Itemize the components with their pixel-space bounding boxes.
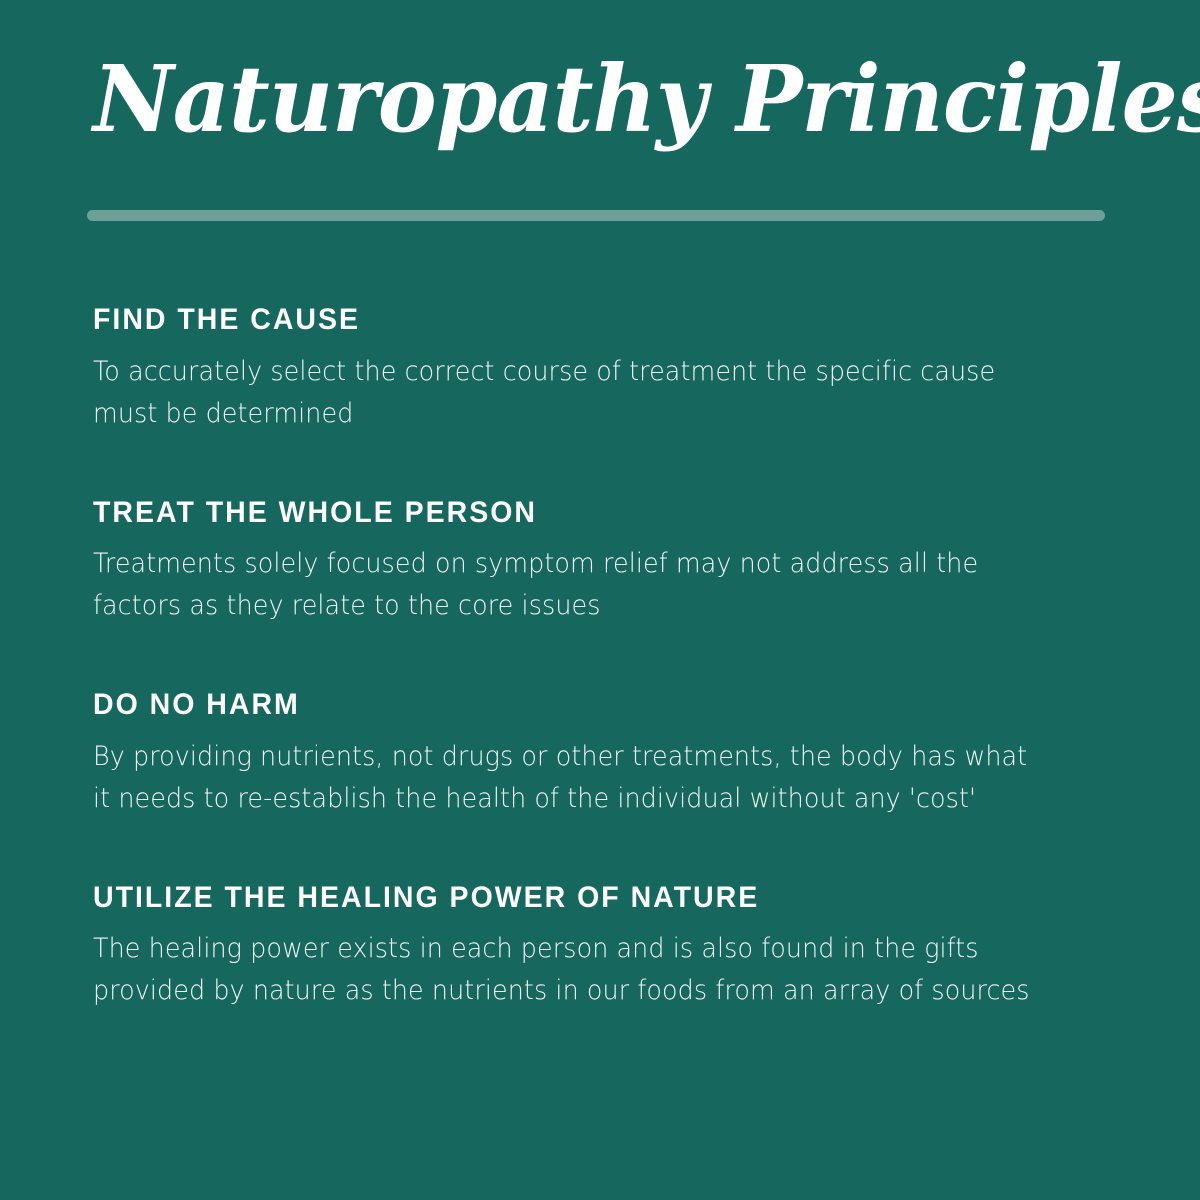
principle-heading-do-no-harm: DO NO HARM xyxy=(93,688,1043,722)
list-item: FIND THE CAUSE To accurately select the … xyxy=(93,303,1093,435)
principle-body-do-no-harm: By providing nutrients, not drugs or oth… xyxy=(93,736,1033,820)
page-title: Naturopathy Principles xyxy=(93,52,1072,148)
list-item: UTILIZE THE HEALING POWER OF NATURE The … xyxy=(93,881,1093,1013)
naturopathy-principles-poster: Naturopathy Principles FIND THE CAUSE To… xyxy=(0,0,1200,1200)
principle-body-find-the-cause: To accurately select the correct course … xyxy=(93,351,1033,435)
principle-heading-treat-the-whole-person: TREAT THE WHOLE PERSON xyxy=(93,496,1043,530)
principles-list: FIND THE CAUSE To accurately select the … xyxy=(93,303,1093,1012)
principle-heading-find-the-cause: FIND THE CAUSE xyxy=(93,303,1043,337)
list-item: DO NO HARM By providing nutrients, not d… xyxy=(93,688,1093,820)
title-divider xyxy=(87,210,1105,221)
principle-body-utilize-the-healing-power-of-nature: The healing power exists in each person … xyxy=(93,928,1033,1012)
title-block: Naturopathy Principles xyxy=(93,52,1113,148)
principle-heading-utilize-the-healing-power-of-nature: UTILIZE THE HEALING POWER OF NATURE xyxy=(93,881,1043,915)
principle-body-treat-the-whole-person: Treatments solely focused on symptom rel… xyxy=(93,543,1033,627)
list-item: TREAT THE WHOLE PERSON Treatments solely… xyxy=(93,496,1093,628)
